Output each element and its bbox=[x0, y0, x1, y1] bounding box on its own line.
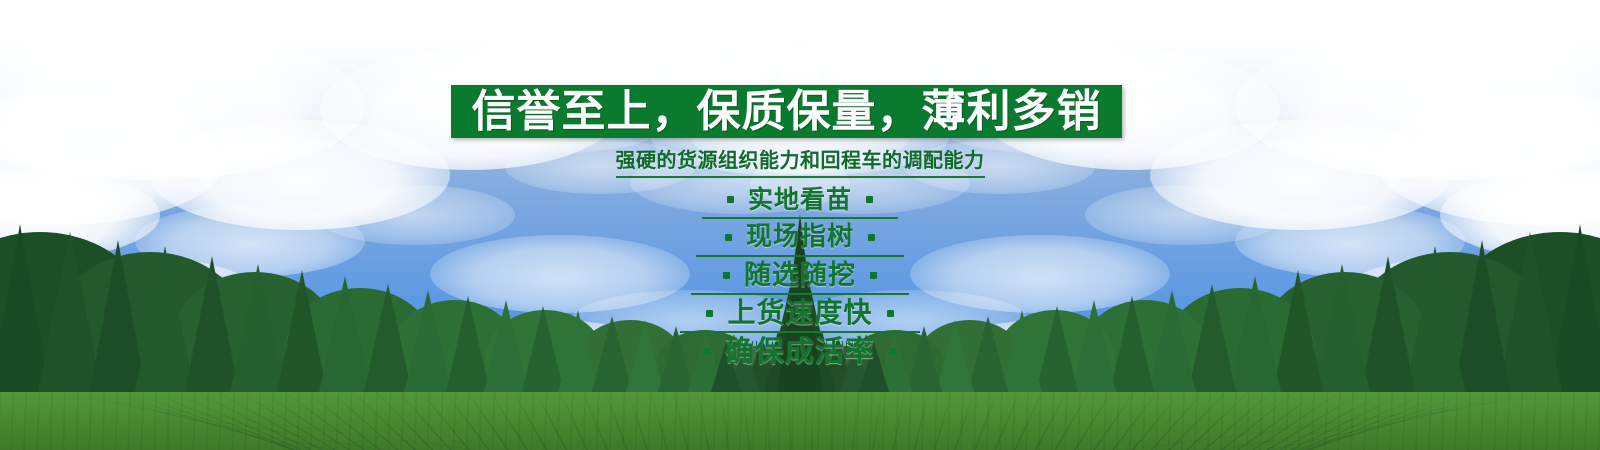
furrow-line bbox=[510, 388, 548, 450]
bullet-dot-icon bbox=[723, 272, 730, 279]
furrow-line bbox=[533, 388, 567, 450]
furrow-line bbox=[209, 388, 323, 450]
furrow-line bbox=[417, 388, 470, 450]
furrow-line bbox=[116, 388, 294, 450]
bullet-dot-icon bbox=[868, 234, 875, 241]
headline-plate: 信誉至上，保质保量，薄利多销 bbox=[451, 85, 1122, 138]
furrow-line bbox=[788, 388, 791, 450]
furrow-line bbox=[1221, 388, 1301, 450]
furrow-line bbox=[1186, 388, 1254, 450]
furrow-line bbox=[557, 388, 588, 450]
feature-item-label: 现场指树 bbox=[746, 224, 854, 250]
furrow-line bbox=[278, 388, 365, 450]
feature-item: 确保成活率 bbox=[0, 332, 1600, 370]
furrow-line bbox=[872, 388, 883, 450]
furrow-line bbox=[1308, 388, 1486, 450]
furrow-line bbox=[1113, 388, 1162, 450]
furrow-line bbox=[1150, 388, 1208, 450]
feature-item-inner: 实地看苗 bbox=[727, 180, 873, 218]
furrow-line bbox=[1291, 388, 1417, 450]
bullet-dot-icon bbox=[866, 196, 873, 203]
furrow-line bbox=[742, 388, 750, 450]
subtitle-row: 强硬的货源组织能力和回程车的调配能力 bbox=[0, 144, 1600, 178]
feature-item: 随选随挖 bbox=[0, 256, 1600, 294]
furrow-line bbox=[487, 388, 528, 450]
furrow-line bbox=[1292, 388, 1532, 450]
furrow-line bbox=[255, 388, 350, 450]
furrow-line bbox=[580, 388, 608, 450]
furrow-line bbox=[1252, 388, 1347, 450]
furrow-line bbox=[348, 388, 416, 450]
feature-item-inner: 上货速度快 bbox=[706, 294, 893, 332]
furrow-line bbox=[626, 388, 648, 450]
crop-field bbox=[0, 370, 1600, 450]
furrow-line bbox=[1279, 388, 1393, 450]
furrow-line bbox=[46, 388, 335, 450]
furrow-line bbox=[1124, 388, 1600, 450]
furrow-line bbox=[893, 388, 907, 450]
feature-item-inner: 随选随挖 bbox=[723, 256, 877, 294]
furrow-line bbox=[913, 388, 930, 450]
furrow-line bbox=[810, 388, 813, 450]
furrow-line bbox=[1131, 388, 1184, 450]
feature-item-inner: 现场指树 bbox=[725, 218, 875, 256]
furrow-line bbox=[1304, 388, 1509, 450]
furrow-line bbox=[1267, 388, 1556, 450]
furrow-line bbox=[1014, 388, 1045, 450]
furrow-line bbox=[954, 388, 976, 450]
bullet-dot-icon bbox=[889, 348, 896, 355]
bullet-dot-icon bbox=[706, 310, 713, 317]
furrow-line bbox=[974, 388, 999, 450]
bullet-dot-icon bbox=[727, 196, 734, 203]
furrow-line bbox=[371, 388, 433, 450]
furrow-line bbox=[933, 388, 952, 450]
furrow-line bbox=[93, 388, 298, 450]
promo-banner: 信誉至上，保质保量，薄利多销 强硬的货源组织能力和回程车的调配能力 实地看苗现场… bbox=[0, 0, 1600, 450]
furrow-line bbox=[603, 388, 628, 450]
furrow-line bbox=[1169, 388, 1231, 450]
furrow-line bbox=[325, 388, 398, 450]
furrow-line bbox=[186, 388, 312, 450]
furrow-line bbox=[139, 388, 296, 450]
feature-item: 上货速度快 bbox=[0, 294, 1600, 332]
bullet-dot-icon bbox=[870, 272, 877, 279]
feature-item-label: 随选随挖 bbox=[744, 262, 856, 289]
furrow-line bbox=[831, 388, 837, 450]
furrow-line bbox=[441, 388, 490, 450]
furrow-line bbox=[1306, 388, 1463, 450]
bullet-dot-icon bbox=[725, 234, 732, 241]
furrow-line bbox=[232, 388, 336, 450]
furrow-line bbox=[70, 388, 310, 450]
furrow-line bbox=[1204, 388, 1277, 450]
furrow-line bbox=[1300, 388, 1440, 450]
bullet-dot-icon bbox=[704, 348, 711, 355]
furrow-line bbox=[1074, 388, 1115, 450]
crop-furrows bbox=[0, 388, 1600, 450]
feature-item-label: 确保成活率 bbox=[725, 337, 875, 366]
page-title: 信誉至上，保质保量，薄利多销 bbox=[472, 90, 1102, 134]
furrow-line bbox=[851, 388, 859, 450]
bullet-dot-icon bbox=[887, 310, 894, 317]
furrow-line bbox=[1034, 388, 1068, 450]
furrow-line bbox=[23, 388, 384, 450]
furrow-line bbox=[162, 388, 302, 450]
furrow-line bbox=[1218, 388, 1579, 450]
furrow-line bbox=[1266, 388, 1370, 450]
furrow-line bbox=[301, 388, 381, 450]
furrow-line bbox=[464, 388, 509, 450]
feature-item-inner: 确保成活率 bbox=[704, 332, 896, 370]
subtitle-text: 强硬的货源组织能力和回程车的调配能力 bbox=[616, 144, 985, 178]
furrow-line bbox=[719, 388, 730, 450]
furrow-line bbox=[994, 388, 1022, 450]
furrow-line bbox=[649, 388, 668, 450]
furrow-line bbox=[1237, 388, 1324, 450]
furrow-line bbox=[394, 388, 452, 450]
furrow-line bbox=[1093, 388, 1138, 450]
furrow-line bbox=[765, 388, 771, 450]
furrow-line bbox=[1054, 388, 1092, 450]
furrow-line bbox=[0, 388, 478, 450]
feature-item-label: 实地看苗 bbox=[748, 187, 852, 212]
feature-item-label: 上货速度快 bbox=[727, 299, 872, 327]
furrow-line bbox=[672, 388, 689, 450]
feature-item: 实地看苗 bbox=[0, 180, 1600, 218]
feature-list: 实地看苗现场指树随选随挖上货速度快确保成活率 bbox=[0, 180, 1600, 370]
furrow-line bbox=[696, 388, 710, 450]
feature-item: 现场指树 bbox=[0, 218, 1600, 256]
